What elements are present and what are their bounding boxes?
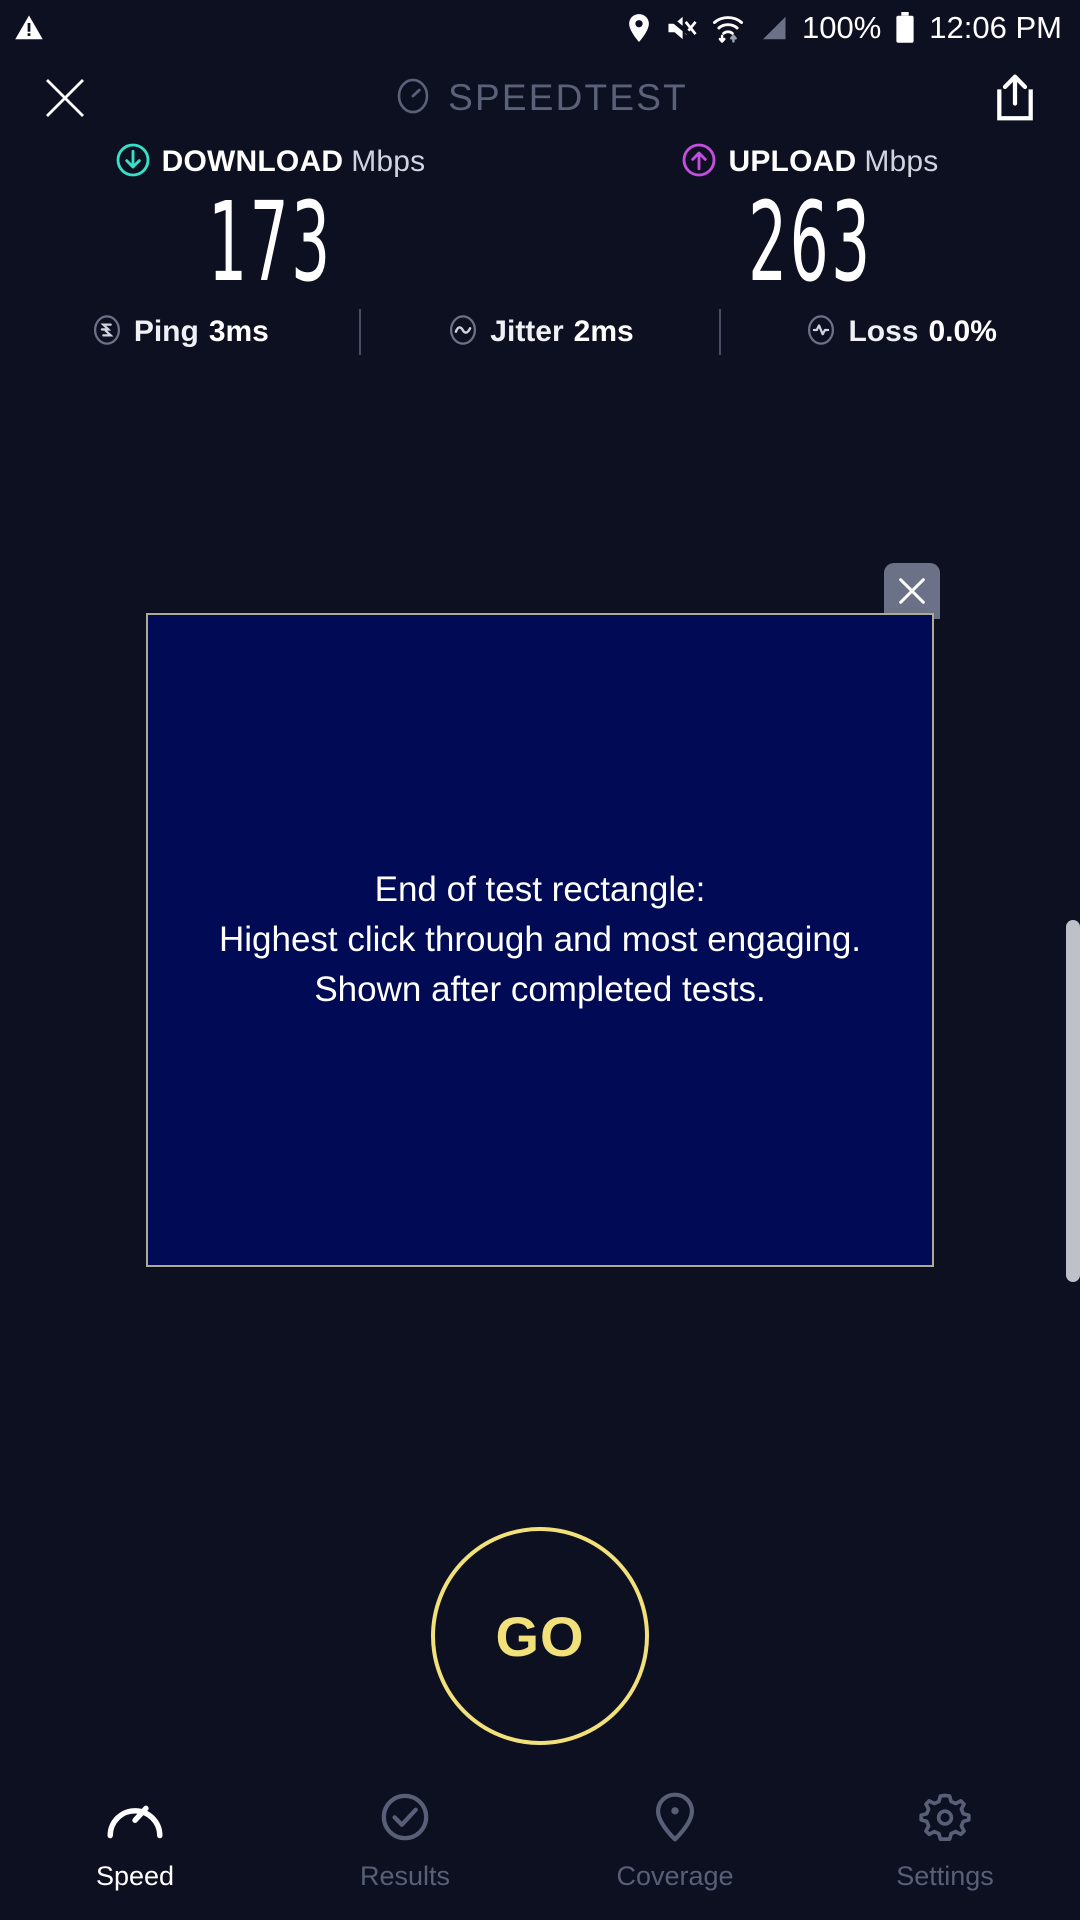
metric-ping: Ping 3ms [0,313,359,352]
advertisement-banner[interactable]: End of test rectangle: Highest click thr… [146,613,934,1267]
ad-text: End of test rectangle: Highest click thr… [207,865,873,1014]
share-icon [994,74,1036,122]
ad-line-2: Highest click through and most engaging. [219,915,861,965]
speed-readouts: DOWNLOADMbps 173 UPLOADMbps [0,140,1080,295]
jitter-icon [446,313,480,352]
battery-full-icon [895,12,915,44]
download-arrow-icon [115,142,151,183]
upload-result: UPLOADMbps 263 [540,140,1080,295]
cellular-signal-icon [758,13,788,43]
ping-value: 3ms [209,315,269,349]
brand: SPEEDTEST [392,75,688,122]
upload-value: 263 [748,190,873,295]
ad-line-1: End of test rectangle: [219,865,861,915]
status-bar: 100% 12:06 PM [0,0,1080,55]
gear-icon [914,1792,976,1847]
ad-close-button[interactable] [884,563,940,619]
nav-label-results: Results [360,1861,450,1892]
upload-label: UPLOADMbps [728,145,938,179]
loss-icon [804,313,838,352]
vertical-scrollbar[interactable] [1066,920,1080,1282]
warning-triangle-icon [14,13,44,43]
nav-item-settings[interactable]: Settings [810,1792,1080,1892]
nav-label-settings: Settings [896,1861,994,1892]
bottom-navigation: Speed Results Coverage [0,1784,1080,1920]
download-label: DOWNLOADMbps [162,145,426,179]
metric-jitter: Jitter 2ms [361,313,720,352]
results-panel: DOWNLOADMbps 173 UPLOADMbps [0,140,1080,295]
app-header: SPEEDTEST [0,58,1080,138]
nav-item-speed[interactable]: Speed [0,1792,270,1892]
jitter-value: 2ms [574,315,634,349]
loss-label: Loss [848,315,918,349]
battery-percent-label: 100% [802,12,881,43]
upload-unit: Mbps [864,145,938,178]
go-button-label: GO [495,1604,584,1669]
location-pin-icon [626,13,652,43]
metrics-row: Ping 3ms Jitter 2ms Loss 0.0 [0,303,1080,361]
nav-item-results[interactable]: Results [270,1792,540,1892]
check-circle-icon [374,1792,436,1847]
speedometer-icon [392,75,434,122]
speedometer-icon [104,1792,166,1847]
jitter-label: Jitter [490,315,563,349]
status-bar-left [14,13,44,43]
ping-label: Ping [134,315,199,349]
nav-item-coverage[interactable]: Coverage [540,1792,810,1892]
nav-label-speed: Speed [96,1861,174,1892]
close-icon [895,574,929,608]
wifi-icon [712,12,744,44]
download-value: 173 [208,190,333,295]
ping-icon [90,313,124,352]
close-icon [41,74,89,122]
close-button[interactable] [34,67,96,129]
status-bar-right: 100% 12:06 PM [626,12,1062,44]
share-button[interactable] [984,67,1046,129]
download-result: DOWNLOADMbps 173 [0,140,540,295]
clock-label: 12:06 PM [929,12,1062,43]
volume-mute-icon [666,13,698,43]
map-pin-icon [644,1792,706,1847]
brand-title: SPEEDTEST [448,77,688,119]
download-unit: Mbps [351,145,425,178]
metric-loss: Loss 0.0% [721,313,1080,352]
ad-line-3: Shown after completed tests. [219,965,861,1015]
go-button[interactable]: GO [431,1527,649,1745]
upload-arrow-icon [681,142,717,183]
nav-label-coverage: Coverage [616,1861,733,1892]
speedtest-app-screen: 100% 12:06 PM SPEEDTEST [0,0,1080,1920]
loss-value: 0.0% [929,315,997,349]
